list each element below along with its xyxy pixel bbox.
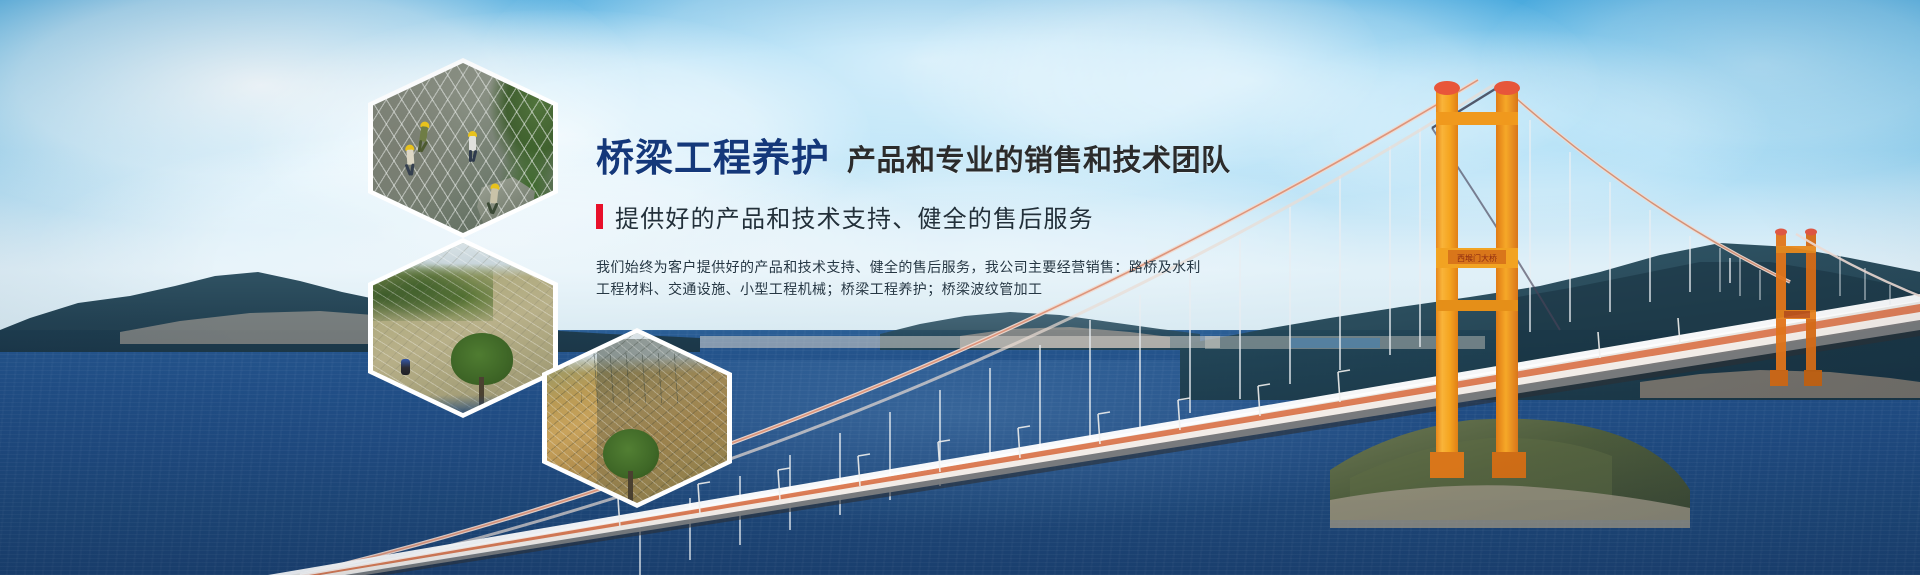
banner-copy: 桥梁工程养护 产品和专业的销售和技术团队 提供好的产品和技术支持、健全的售后服务… — [596, 140, 1256, 300]
water-edge — [373, 395, 553, 413]
headline: 桥梁工程养护 产品和专业的销售和技术团队 — [596, 140, 1256, 178]
hex-photo-3[interactable] — [542, 328, 732, 508]
body-line-2: 工程材料、交通设施、小型工程机械；桥梁工程养护；桥梁波纹管加工 — [596, 278, 1256, 300]
hero-banner: 西堠门大桥 — [0, 0, 1920, 575]
worker-figure — [401, 359, 410, 375]
headline-primary: 桥梁工程养护 — [596, 140, 830, 178]
protection-mesh — [373, 63, 553, 233]
subheadline: 提供好的产品和技术支持、健全的售后服务 — [596, 199, 1256, 234]
green-slope-net-photo — [373, 243, 553, 413]
foreground-tree — [603, 429, 659, 501]
body-copy: 我们始终为客户提供好的产品和技术支持、健全的售后服务，我公司主要经营销售：路桥及… — [596, 256, 1256, 300]
coastal-slope-net-photo — [547, 333, 727, 503]
body-line-1: 我们始终为客户提供好的产品和技术支持、健全的售后服务，我公司主要经营销售：路桥及… — [596, 256, 1256, 278]
headline-secondary: 产品和专业的销售和技术团队 — [847, 147, 1231, 178]
hex-photo-1[interactable] — [368, 58, 558, 238]
subheadline-text: 提供好的产品和技术支持、健全的售后服务 — [615, 199, 1094, 234]
slope-mesh-workers-photo — [373, 63, 553, 233]
accent-bar — [596, 204, 603, 229]
hex-photo-2[interactable] — [368, 238, 558, 418]
